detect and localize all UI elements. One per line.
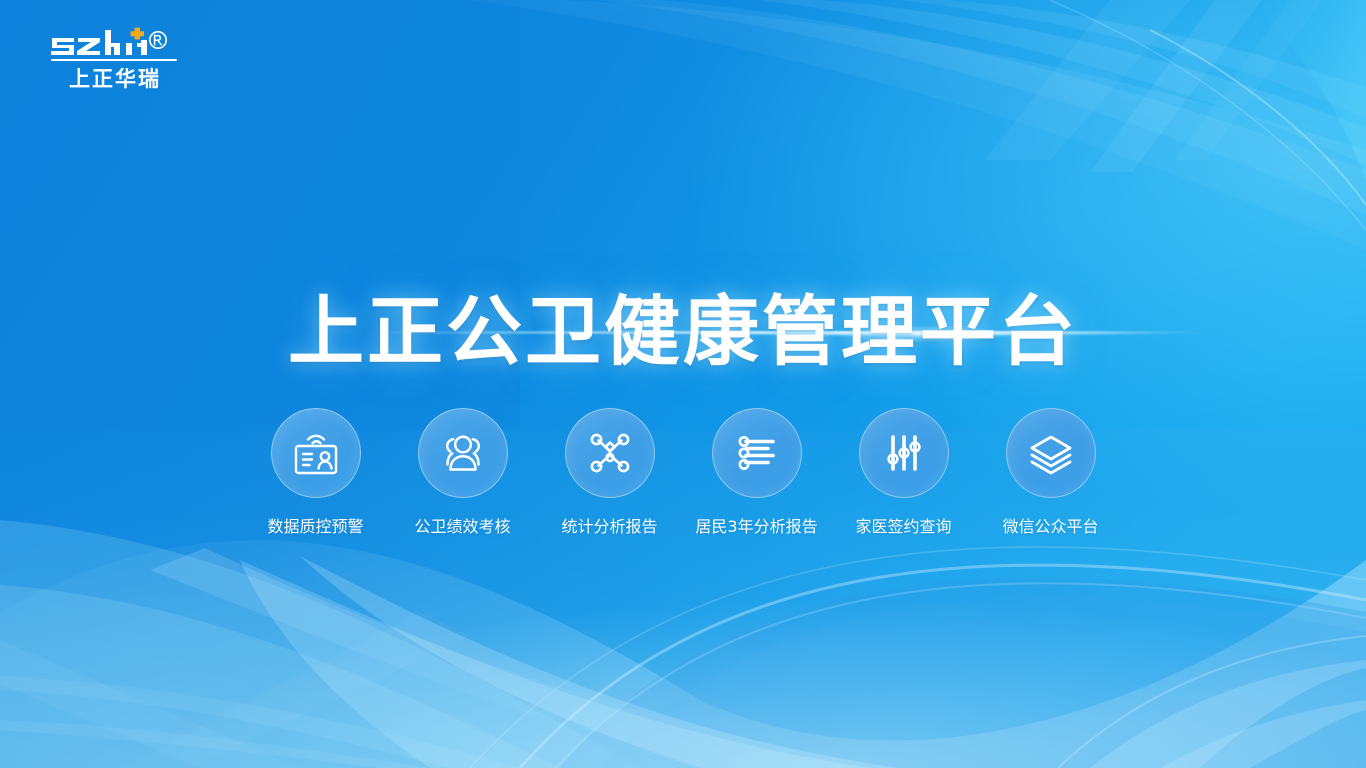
splash-screen: 上正华瑞 上正公卫健康管理平台 数据质控预警 <box>0 0 1366 768</box>
layers-stack-icon <box>1024 426 1078 480</box>
feature-item-wechat-platform[interactable]: 微信公众平台 <box>1003 408 1099 537</box>
feature-icon-circle[interactable] <box>712 408 802 498</box>
logo-wordmark-szhr-icon <box>48 26 198 60</box>
feature-label: 居民3年分析报告 <box>695 517 817 537</box>
feature-label: 公卫绩效考核 <box>415 517 511 537</box>
feature-icon-circle[interactable] <box>418 408 508 498</box>
feature-item-resident-3-year-report[interactable]: 居民3年分析报告 <box>709 408 805 537</box>
users-group-icon <box>436 426 490 480</box>
feature-shortcut-row: 数据质控预警 公卫绩效考核 <box>0 408 1366 537</box>
feature-item-data-quality-alert[interactable]: 数据质控预警 <box>268 408 364 537</box>
logo-company-name: 上正华瑞 <box>50 66 180 92</box>
network-nodes-icon <box>583 426 637 480</box>
feature-item-family-doctor-query[interactable]: 家医签约查询 <box>856 408 952 537</box>
page-title: 上正公卫健康管理平台 <box>0 287 1366 377</box>
feature-icon-circle[interactable] <box>271 408 361 498</box>
feature-icon-circle[interactable] <box>859 408 949 498</box>
feature-label: 微信公众平台 <box>1003 517 1099 537</box>
feature-label: 数据质控预警 <box>268 517 364 537</box>
feature-label: 统计分析报告 <box>562 517 658 537</box>
list-sliders-icon <box>730 426 784 480</box>
background-artwork <box>0 0 1366 768</box>
registered-trademark-icon <box>150 32 166 48</box>
logo-mark <box>48 26 198 60</box>
feature-label: 家医签约查询 <box>856 517 952 537</box>
logo-divider <box>51 59 177 61</box>
feature-item-performance-review[interactable]: 公卫绩效考核 <box>415 408 511 537</box>
equalizer-sliders-icon <box>877 426 931 480</box>
feature-icon-circle[interactable] <box>565 408 655 498</box>
feature-icon-circle[interactable] <box>1006 408 1096 498</box>
id-card-signal-icon <box>289 426 343 480</box>
feature-item-statistics-report[interactable]: 统计分析报告 <box>562 408 658 537</box>
cross-accent-icon <box>131 28 145 40</box>
brand-logo[interactable]: 上正华瑞 <box>48 26 198 96</box>
